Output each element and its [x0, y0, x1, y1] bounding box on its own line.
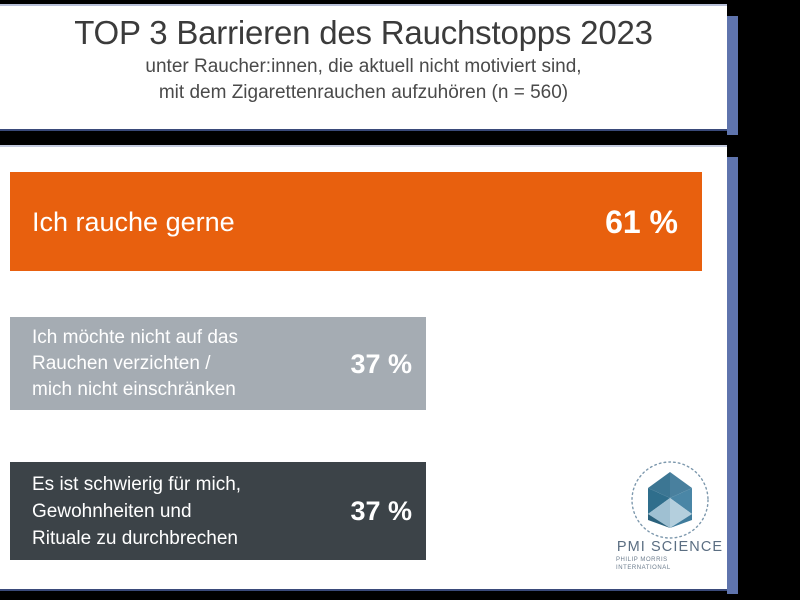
bar-label-2: Ich möchte nicht auf das Rauchen verzich…	[32, 325, 238, 403]
bar-value-1: 61 %	[605, 205, 678, 239]
main-panel-shadow	[727, 157, 738, 594]
page-subtitle-line-2: mit dem Zigarettenrauchen aufzuhören (n …	[159, 80, 568, 106]
bar-row-1: Ich rauche gerne 61 %	[10, 172, 702, 271]
page-title: TOP 3 Barrieren des Rauchstopps 2023	[74, 12, 653, 54]
header-panel-shadow	[727, 16, 738, 135]
bar-label-3: Es ist schwierig für mich, Gewohnheiten …	[32, 471, 241, 552]
header-content: TOP 3 Barrieren des Rauchstopps 2023 unt…	[0, 6, 727, 133]
pmi-logo-mark-icon	[628, 458, 712, 542]
bar-value-2: 37 %	[350, 349, 412, 379]
bar-row-3: Es ist schwierig für mich, Gewohnheiten …	[10, 462, 426, 560]
bar-value-3: 37 %	[350, 496, 412, 526]
slide-canvas: TOP 3 Barrieren des Rauchstopps 2023 unt…	[0, 0, 800, 600]
pmi-science-logo: PMI SCIENCE PHILIP MORRIS INTERNATIONAL	[616, 458, 724, 570]
page-subtitle-line-1: unter Raucher:innen, die aktuell nicht m…	[145, 54, 581, 80]
bar-row-2: Ich möchte nicht auf das Rauchen verzich…	[10, 317, 426, 410]
pmi-logo-tagline: PHILIP MORRIS INTERNATIONAL	[616, 556, 724, 572]
header-panel: TOP 3 Barrieren des Rauchstopps 2023 unt…	[0, 4, 727, 131]
bar-label-1: Ich rauche gerne	[32, 205, 235, 239]
